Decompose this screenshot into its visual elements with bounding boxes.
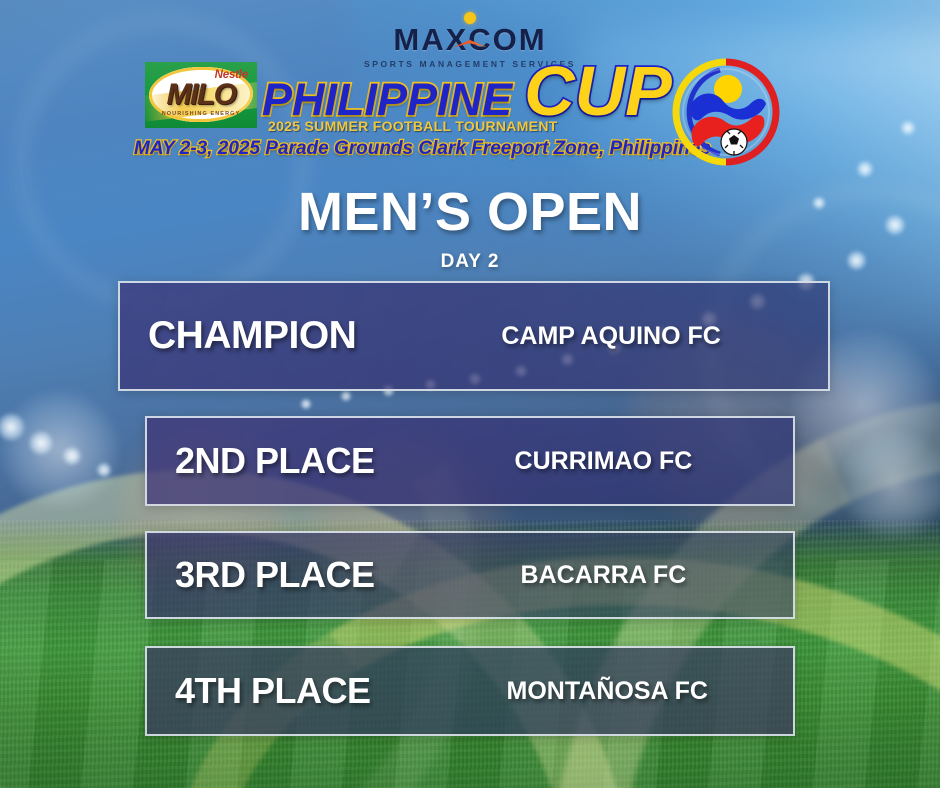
rank-label: CHAMPION	[148, 314, 356, 358]
result-row-champion: CHAMPION CAMP AQUINO FC	[118, 281, 830, 391]
team-name: BACARRA FC	[521, 561, 687, 590]
results-list: CHAMPION CAMP AQUINO FC 2ND PLACE CURRIM…	[0, 0, 940, 788]
tournament-results-poster: MAXCOM SPORTS MANAGEMENT SERVICES Nestle…	[0, 0, 940, 788]
result-row-third: 3RD PLACE BACARRA FC	[145, 531, 795, 619]
rank-label: 3RD PLACE	[175, 554, 375, 596]
team-name: CAMP AQUINO FC	[501, 322, 720, 351]
milo-wordmark: MILO	[145, 80, 257, 110]
rank-label: 2ND PLACE	[175, 440, 375, 482]
team-name: MONTAÑOSA FC	[507, 677, 708, 706]
rank-label: 4TH PLACE	[175, 670, 371, 712]
team-name: CURRIMAO FC	[515, 447, 693, 476]
milo-tagline: NOURISHING ENERGY	[145, 111, 257, 117]
result-row-second: 2ND PLACE CURRIMAO FC	[145, 416, 795, 506]
result-row-fourth: 4TH PLACE MONTAÑOSA FC	[145, 646, 795, 736]
